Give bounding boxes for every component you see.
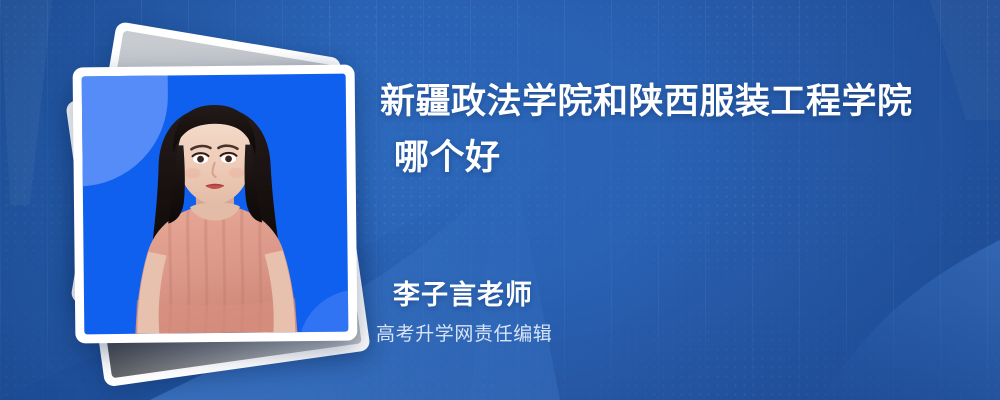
article-cover-poster: 新疆政法学院和陕西服装工程学院 哪个好 李子言老师 高考升学网责任编辑 bbox=[0, 0, 1000, 400]
photo-card-front bbox=[73, 65, 358, 344]
poster-text-column: 新疆政法学院和陕西服装工程学院 哪个好 李子言老师 高考升学网责任编辑 bbox=[372, 0, 972, 400]
photo-card-stack bbox=[48, 36, 348, 356]
author-photo bbox=[82, 74, 349, 335]
author-role: 高考升学网责任编辑 bbox=[376, 319, 552, 346]
headline-line-2: 哪个好 bbox=[380, 130, 972, 186]
page-title: 新疆政法学院和陕西服装工程学院 哪个好 bbox=[380, 74, 972, 186]
author-name: 李子言老师 bbox=[393, 273, 533, 312]
portrait-illustration bbox=[91, 100, 339, 335]
headline-line-1: 新疆政法学院和陕西服装工程学院 bbox=[380, 82, 913, 121]
